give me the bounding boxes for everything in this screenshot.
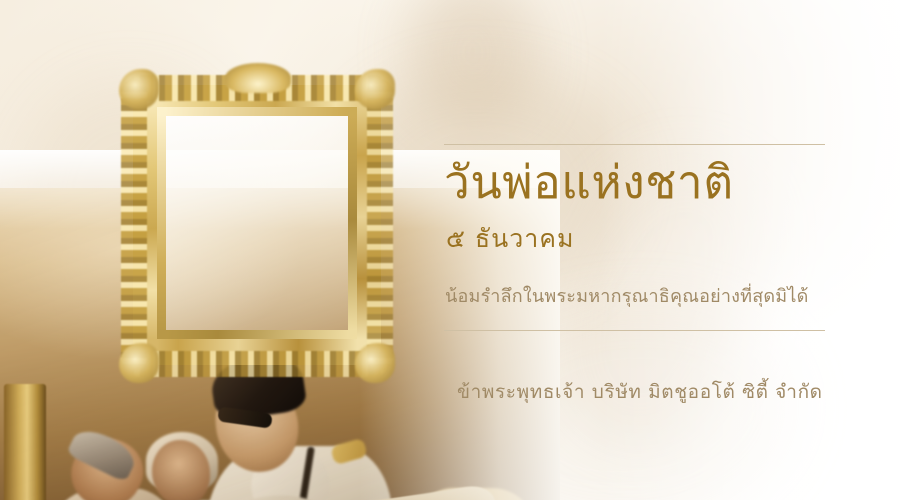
elderly-woman-headscarf — [146, 432, 218, 490]
text-column: วันพ่อแห่งชาติ ๕ ธันวาคม น้อมรำลึกในพระม… — [444, 0, 844, 500]
gold-picture-frame — [133, 85, 381, 365]
frame-corner-ornament-top-left — [119, 69, 159, 109]
frame-corner-ornament-bottom-right — [355, 343, 395, 383]
father-day-banner: วันพ่อแห่งชาติ ๕ ธันวาคม น้อมรำลึกในพระม… — [0, 0, 900, 500]
frame-corner-ornament-top-right — [355, 69, 395, 109]
bamboo-post — [4, 384, 46, 500]
elderly-man-body — [36, 488, 186, 500]
date-line: ๕ ธันวาคม — [446, 219, 575, 259]
sunglasses — [217, 406, 273, 428]
central-figure-epaulet — [330, 438, 368, 466]
tagline-text: น้อมรำลึกในพระมหากรุณาธิคุณอย่างที่สุดมิ… — [445, 281, 809, 310]
company-credit-line: ข้าพระพุทธเจ้า บริษัท มิตชูออโต้ ซิตี้ จ… — [457, 377, 823, 407]
elderly-man-head — [60, 426, 155, 500]
camera-strap — [284, 446, 315, 500]
central-figure-head — [211, 374, 302, 476]
elderly-man-hair — [66, 423, 140, 482]
frame-corner-ornament-bottom-left — [119, 343, 159, 383]
divider-top — [444, 144, 825, 145]
rolled-map-lower — [18, 492, 452, 500]
central-figure-collar — [245, 443, 337, 500]
frame-crest-ornament — [225, 63, 291, 93]
central-figure-jacket — [206, 446, 392, 500]
page-title: วันพ่อแห่งชาติ — [444, 158, 734, 206]
central-figure-arm — [192, 485, 329, 500]
frame-mat-opening — [166, 116, 348, 330]
elderly-woman-head — [152, 440, 210, 500]
divider-bottom — [444, 330, 825, 331]
